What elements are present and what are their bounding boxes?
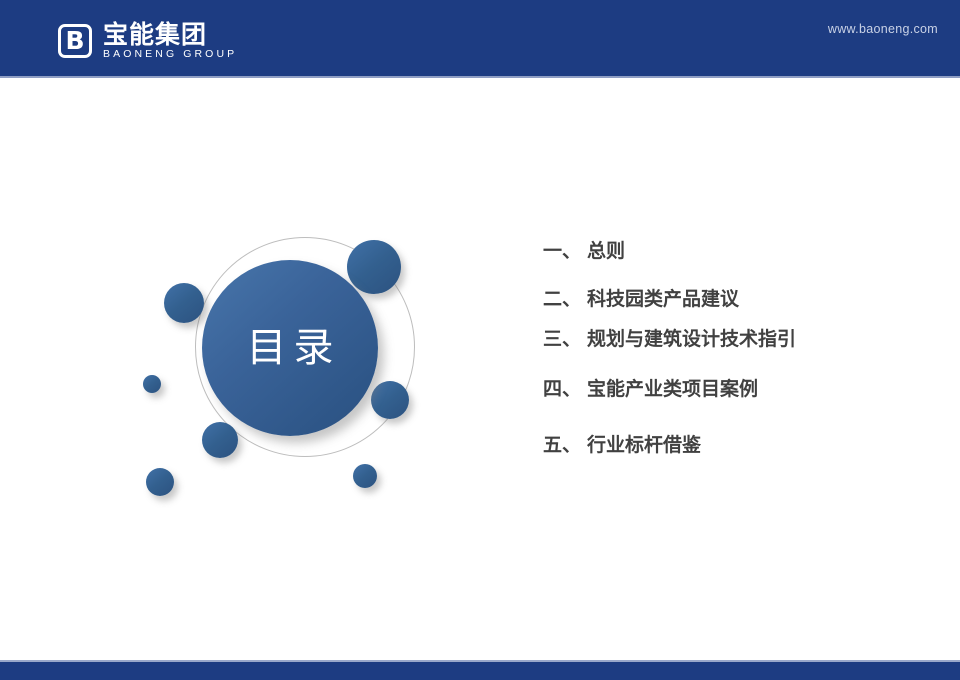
toc-item-4-number: 四、 xyxy=(543,376,587,402)
bubble-medium-right xyxy=(371,381,409,419)
brand-logo[interactable]: B 宝能集团 BAONENG GROUP xyxy=(58,20,237,62)
toc-item-4[interactable]: 四、 宝能产业类项目案例 xyxy=(543,376,923,402)
logo-name-cn: 宝能集团 xyxy=(103,22,237,48)
toc-item-1-label: 总则 xyxy=(587,238,625,264)
logo-wordmark: 宝能集团 BAONENG GROUP xyxy=(103,22,237,61)
bubble-small-left-lower xyxy=(146,468,174,496)
bubble-main-contents: 目录 xyxy=(202,260,378,436)
toc-item-3[interactable]: 三、 规划与建筑设计技术指引 xyxy=(543,326,923,352)
header-underline xyxy=(0,76,960,78)
site-url-link[interactable]: www.baoneng.com xyxy=(828,22,938,36)
logo-b-icon: B xyxy=(58,24,92,58)
toc-item-3-number: 三、 xyxy=(543,326,587,352)
bubble-medium-bottom-left xyxy=(202,422,238,458)
toc-item-5[interactable]: 五、 行业标杆借鉴 xyxy=(543,432,923,458)
logo-name-en: BAONENG GROUP xyxy=(103,48,237,61)
toc-item-1[interactable]: 一、 总则 xyxy=(543,238,923,264)
toc-item-2-label: 科技园类产品建议 xyxy=(587,286,739,312)
toc-circle-graphic: 目录 xyxy=(110,215,440,515)
toc-item-5-label: 行业标杆借鉴 xyxy=(587,432,701,458)
table-of-contents: 一、 总则 二、 科技园类产品建议 三、 规划与建筑设计技术指引 四、 宝能产业… xyxy=(543,238,923,458)
toc-item-1-number: 一、 xyxy=(543,238,587,264)
toc-item-2-number: 二、 xyxy=(543,286,587,312)
bubble-small-bottom-right xyxy=(353,464,377,488)
toc-item-5-number: 五、 xyxy=(543,432,587,458)
contents-title: 目录 xyxy=(240,326,341,370)
toc-item-2[interactable]: 二、 科技园类产品建议 xyxy=(543,286,923,312)
bubble-medium-left xyxy=(164,283,204,323)
bubble-small-left-upper xyxy=(143,375,161,393)
toc-item-4-label: 宝能产业类项目案例 xyxy=(587,376,758,402)
slide-canvas: B 宝能集团 BAONENG GROUP www.baoneng.com 目录 … xyxy=(0,0,960,680)
toc-item-3-label: 规划与建筑设计技术指引 xyxy=(587,326,796,352)
footer-bar xyxy=(0,662,960,680)
bubble-large-top-right xyxy=(347,240,401,294)
